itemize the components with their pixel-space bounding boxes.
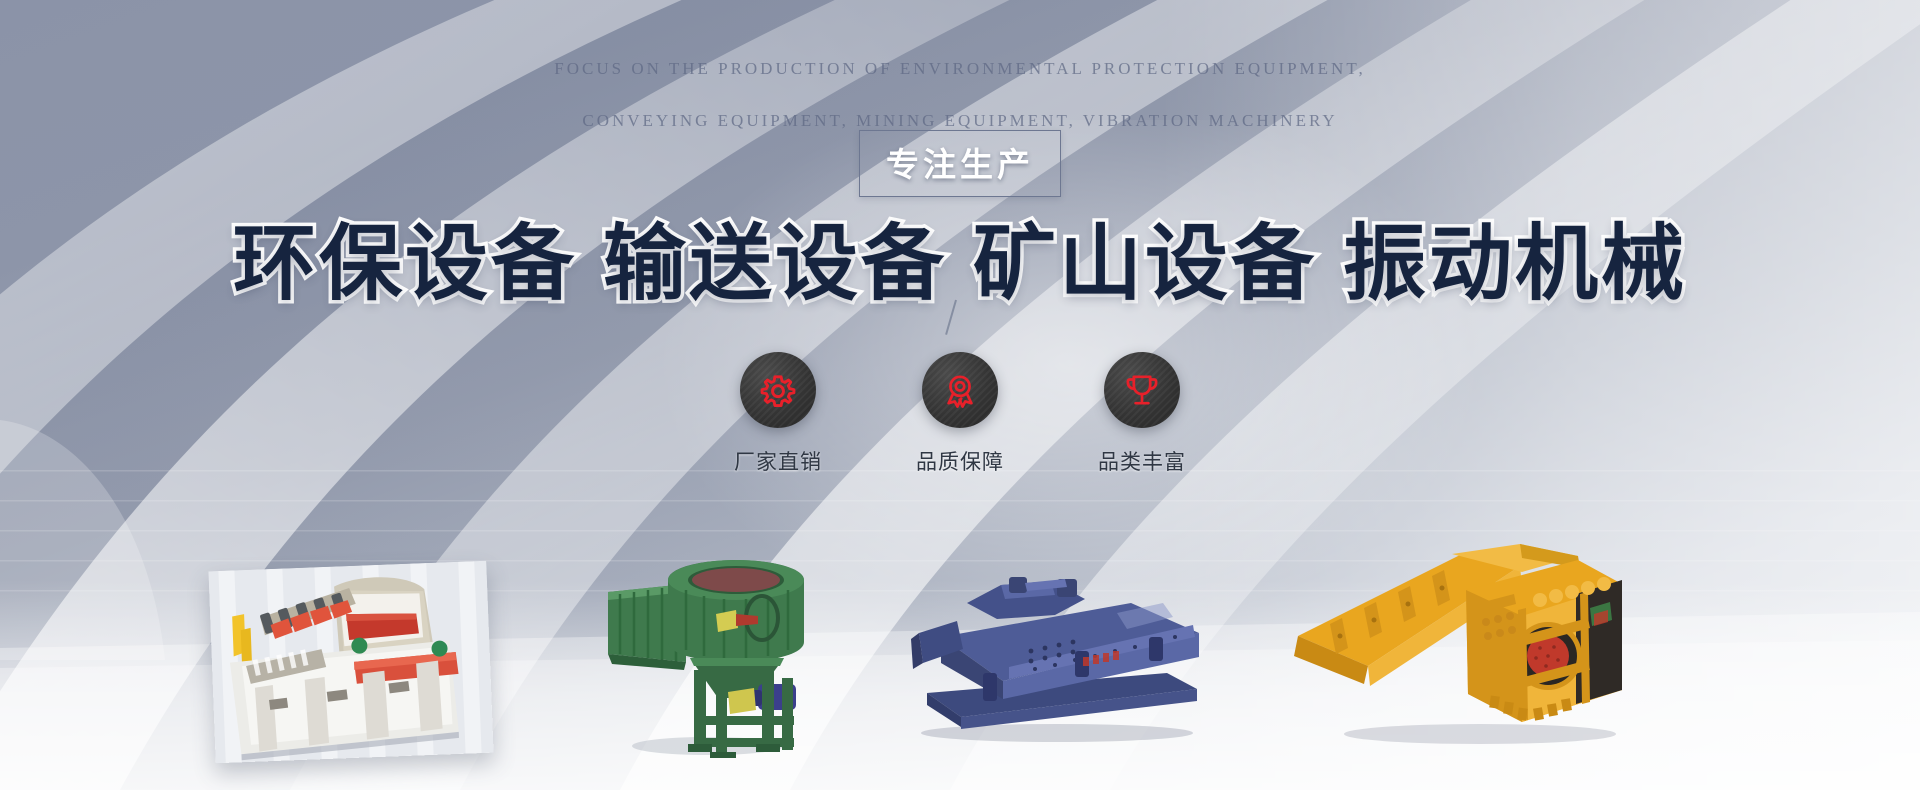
page-title: 环保设备输送设备矿山设备振动机械 (0, 196, 1920, 316)
machine-photo-jaw-crusher-yellow (1290, 544, 1630, 744)
headline-part-4: 振动机械 (1343, 196, 1687, 316)
machine-photo-vibrating-screen-red (208, 561, 493, 764)
medal-icon (922, 352, 998, 428)
trophy-icon (1104, 352, 1180, 428)
headline-part-2: 输送设备 (603, 196, 947, 316)
headline-part-3: 矿山设备 (973, 196, 1317, 316)
feature-item-variety[interactable]: 品类丰富 (1087, 352, 1197, 476)
hero-banner: FOCUS ON THE PRODUCTION OF ENVIRONMENTAL… (0, 0, 1920, 790)
focus-badge-label: 专注生产 (886, 146, 1034, 183)
machine-gallery (0, 460, 1920, 790)
feature-item-quality[interactable]: 品质保障 (905, 352, 1015, 476)
feature-list: 厂家直销 品质保障 (723, 352, 1197, 476)
tagline-text-1: FOCUS ON THE PRODUCTION OF ENVIRONMENTAL… (0, 56, 1920, 82)
feature-item-factory-direct[interactable]: 厂家直销 (723, 352, 833, 476)
headline-part-1: 环保设备 (233, 196, 577, 316)
gear-icon (740, 352, 816, 428)
machine-photo-linear-screen-blue (905, 577, 1205, 742)
focus-badge: 专注生产 (859, 130, 1061, 197)
machine-photo-disc-feeder-green (590, 558, 820, 758)
